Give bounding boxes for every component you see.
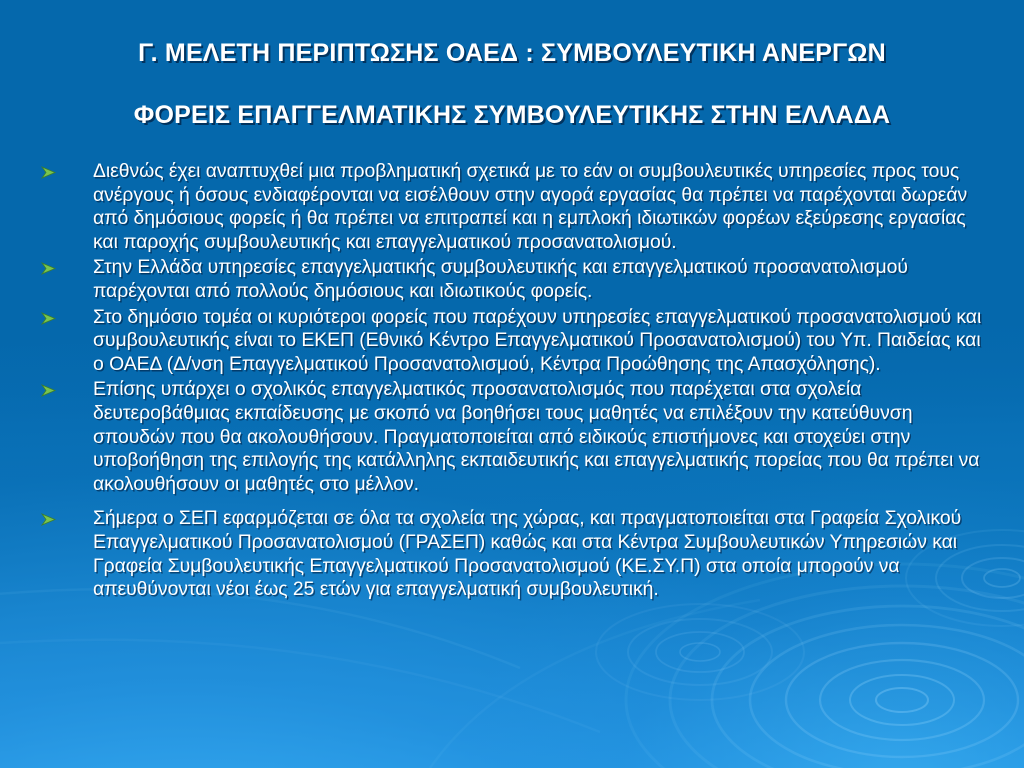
arrow-bullet-icon xyxy=(33,378,93,397)
arrow-bullet-icon xyxy=(33,160,93,179)
presentation-slide: Γ. ΜΕΛΕΤΗ ΠΕΡΙΠΤΩΣΗΣ ΟΑΕΔ : ΣΥΜΒΟΥΛΕΥΤΙΚ… xyxy=(0,0,1024,768)
slide-body-bullet-list: Διεθνώς έχει αναπτυχθεί μια προβληματική… xyxy=(33,160,991,604)
slide-title-block: Γ. ΜΕΛΕΤΗ ΠΕΡΙΠΤΩΣΗΣ ΟΑΕΔ : ΣΥΜΒΟΥΛΕΥΤΙΚ… xyxy=(0,38,1024,132)
bullet-item-4: Επίσης υπάρχει ο σχολικός επαγγελματικός… xyxy=(33,378,991,496)
slide-title-line-2: ΦΟΡΕΙΣ ΕΠΑΓΓΕΛΜΑΤΙΚΗΣ ΣΥΜΒΟΥΛΕΥΤΙΚΗΣ ΣΤΗ… xyxy=(0,100,1024,131)
bullet-text-2: Στην Ελλάδα υπηρεσίες επαγγελματικής συμ… xyxy=(93,256,991,303)
slide-title-line-1: Γ. ΜΕΛΕΤΗ ΠΕΡΙΠΤΩΣΗΣ ΟΑΕΔ : ΣΥΜΒΟΥΛΕΥΤΙΚ… xyxy=(0,38,1024,69)
arrow-bullet-icon xyxy=(33,306,93,325)
bullet-item-5: Σήμερα ο ΣΕΠ εφαρμόζεται σε όλα τα σχολε… xyxy=(33,507,991,601)
bullet-text-3: Στο δημόσιο τομέα οι κυριότεροι φορείς π… xyxy=(93,306,991,377)
arrow-bullet-icon xyxy=(33,256,93,275)
arrow-bullet-icon xyxy=(33,507,93,526)
bullet-text-1: Διεθνώς έχει αναπτυχθεί μια προβληματική… xyxy=(93,160,991,254)
bullet-item-2: Στην Ελλάδα υπηρεσίες επαγγελματικής συμ… xyxy=(33,256,991,303)
bullet-item-3: Στο δημόσιο τομέα οι κυριότεροι φορείς π… xyxy=(33,306,991,377)
bullet-text-5: Σήμερα ο ΣΕΠ εφαρμόζεται σε όλα τα σχολε… xyxy=(93,507,991,601)
bullet-text-4: Επίσης υπάρχει ο σχολικός επαγγελματικός… xyxy=(93,378,991,496)
bullet-item-1: Διεθνώς έχει αναπτυχθεί μια προβληματική… xyxy=(33,160,991,254)
